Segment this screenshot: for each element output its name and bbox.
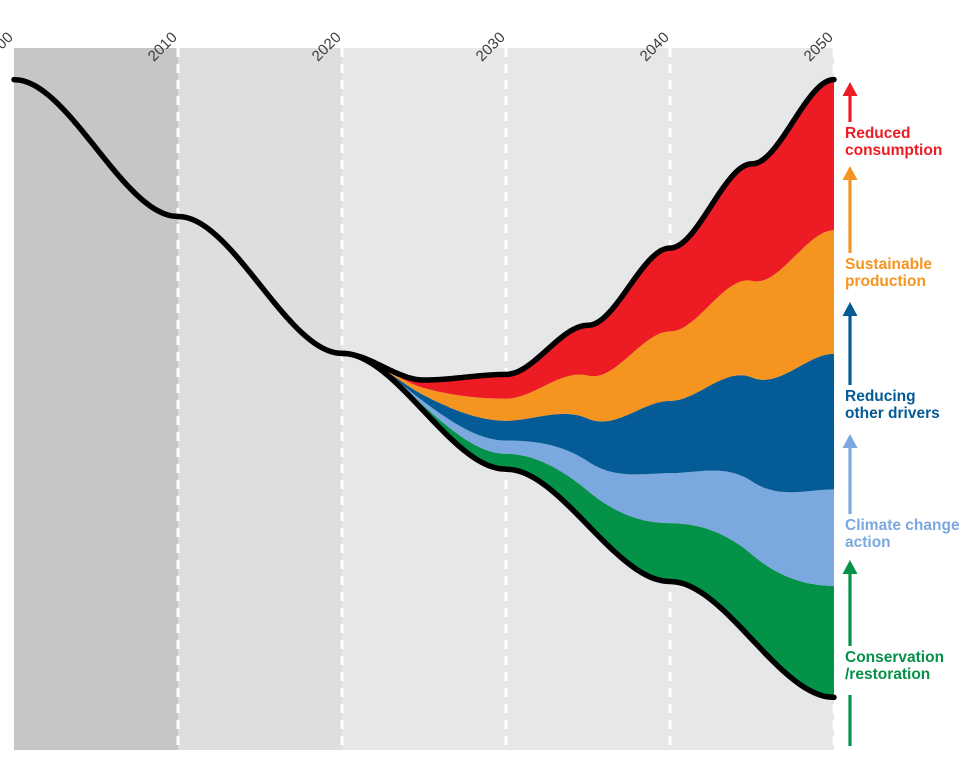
legend-arrow-head-icon (843, 82, 858, 96)
legend-arrow-head-icon (843, 434, 858, 448)
legend-label-line2: production (845, 273, 926, 290)
legend-label-line2: action (845, 534, 891, 551)
legend-item-5[interactable]: Conservation/restoration (843, 560, 945, 746)
legend-label-line1: Reducing (845, 388, 916, 405)
legend-label-line1: Conservation (845, 649, 944, 666)
legend-item-2[interactable]: Sustainableproduction (843, 166, 933, 290)
background-band-2010-2020 (178, 48, 342, 750)
legend-label-line2: other drivers (845, 405, 940, 422)
legend-item-3[interactable]: Reducingother drivers (843, 302, 940, 422)
legend-item-4[interactable]: Climate changeaction (843, 434, 960, 551)
legend-label-line1: Sustainable (845, 256, 932, 273)
chart-container: 200020102020203020402050 Reducedconsumpt… (0, 0, 960, 777)
legend-label-line2: consumption (845, 142, 942, 159)
legend: ReducedconsumptionSustainableproductionR… (843, 82, 960, 746)
legend-item-1[interactable]: Reducedconsumption (843, 82, 943, 176)
legend-arrow-head-icon (843, 302, 858, 316)
background-band-2000-2010 (14, 48, 178, 750)
legend-arrow-head-icon (843, 560, 858, 574)
bending-the-curve-chart: 200020102020203020402050 Reducedconsumpt… (0, 0, 960, 777)
legend-label-line1: Climate change (845, 517, 960, 534)
legend-label-line1: Reduced (845, 125, 910, 142)
legend-label-line2: /restoration (845, 666, 930, 683)
legend-arrow-head-icon (843, 166, 858, 180)
